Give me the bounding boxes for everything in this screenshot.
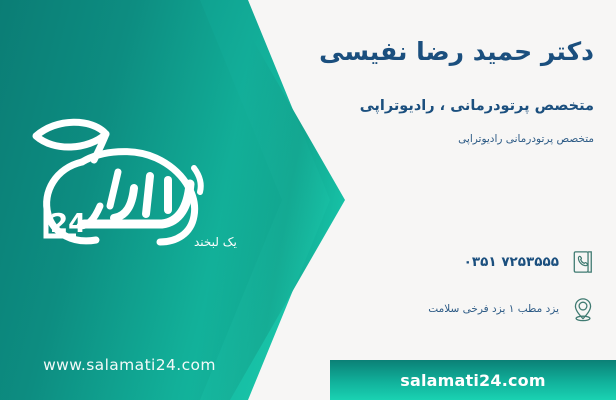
- apple-logo-icon: 24 براحتی یک لبخند: [22, 110, 237, 250]
- badge-24: 24: [46, 206, 86, 239]
- location-pin-icon: [570, 294, 596, 324]
- doctor-specialty-secondary: متخصص پرتودرمانی رادیوتراپی: [264, 132, 594, 147]
- business-card: 24 براحتی یک لبخند www.salamati24.com دک…: [0, 0, 616, 400]
- phone-book-icon: [570, 247, 596, 277]
- doctor-name: دکتر حمید رضا نفیسی: [264, 36, 594, 67]
- contact-row-phone: ۷۲۵۳۵۵۵ ۰۳۵۱: [256, 247, 596, 277]
- svg-text:24: 24: [50, 209, 86, 239]
- logo-tagline: براحتی یک لبخند: [194, 235, 237, 250]
- salamati24-logo: 24 براحتی یک لبخند www.salamati24.com: [22, 110, 237, 275]
- footer-website-bar[interactable]: salamati24.com: [330, 360, 616, 400]
- logo-website-url: www.salamati24.com: [22, 356, 237, 374]
- footer-website-text: salamati24.com: [400, 371, 546, 390]
- phone-number: ۷۲۵۳۵۵۵ ۰۳۵۱: [464, 254, 559, 270]
- contact-row-address: یزد مطب ۱ یزد فرخی سلامت: [256, 294, 596, 324]
- doctor-specialty: متخصص پرتودرمانی ، رادیوتراپی: [264, 96, 594, 116]
- address-text: یزد مطب ۱ یزد فرخی سلامت: [428, 303, 559, 315]
